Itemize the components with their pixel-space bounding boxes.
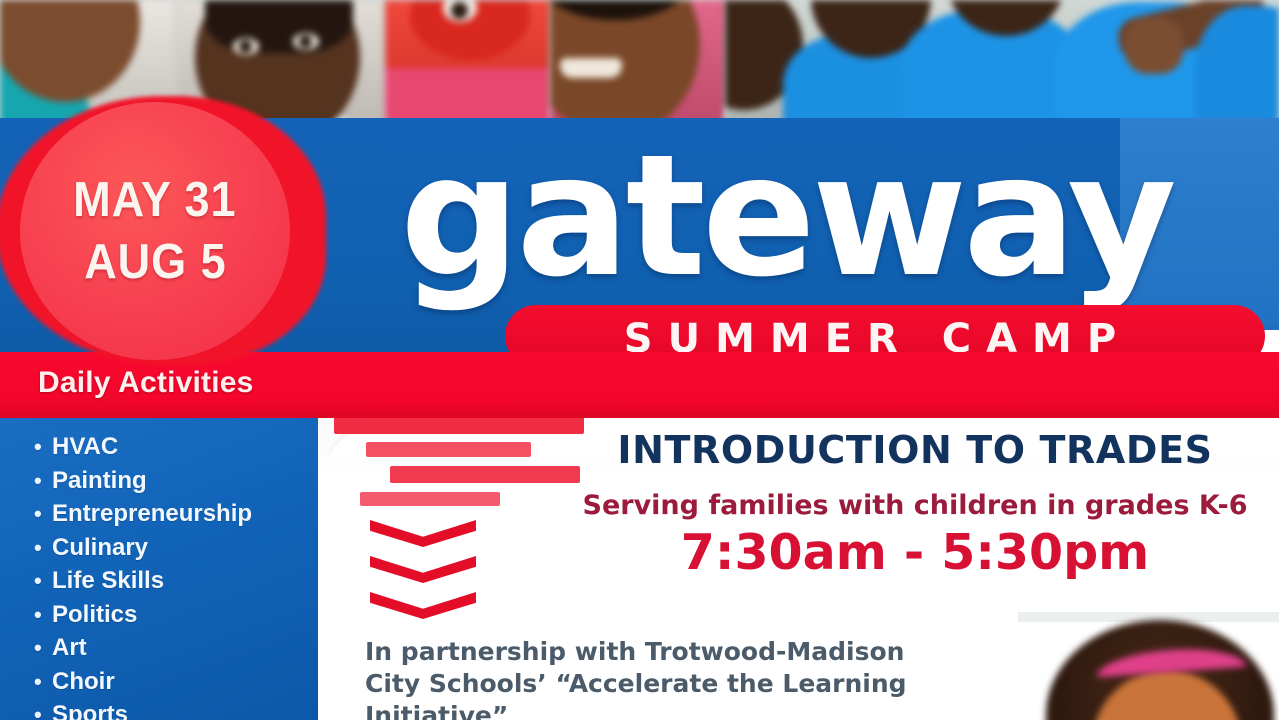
activity-item: Painting (34, 464, 318, 498)
activity-item: HVAC (34, 430, 318, 464)
partnership-note: In partnership with Trotwood-Madison Cit… (365, 636, 965, 720)
activity-item: Choir (34, 665, 318, 699)
gateway-wordmark: gateway (400, 132, 1173, 300)
child-4-smile (560, 58, 622, 78)
child-2-hair (205, 0, 353, 53)
chevron-down-icon (370, 556, 476, 583)
chevron-arrows-icon (370, 520, 480, 625)
camp-end-date: AUG 5 (84, 231, 226, 293)
photo-child-bottom-right (1018, 612, 1279, 720)
camp-dates-badge: MAY 31 AUG 5 (20, 102, 290, 360)
activity-item: Culinary (34, 531, 318, 565)
activity-item: Life Skills (34, 564, 318, 598)
blue-group-hand (1125, 18, 1183, 74)
child-2-right-pupil (299, 35, 312, 48)
child-2-left-pupil (239, 40, 252, 53)
program-title: INTRODUCTION TO TRADES (565, 428, 1265, 472)
activity-item: Art (34, 631, 318, 665)
child-3-pupil (451, 2, 468, 19)
activity-item: Politics (34, 598, 318, 632)
red-streak (360, 492, 500, 506)
photo-child-3-mascot (385, 0, 550, 132)
summer-camp-flyer: gateway SUMMER CAMP Daily Activities MAY… (0, 0, 1279, 720)
activities-panel: HVACPaintingEntrepreneurshipCulinaryLife… (0, 418, 318, 720)
red-streak (366, 442, 531, 457)
photo-children-blue-shirts (725, 0, 1279, 132)
activity-item: Entrepreneurship (34, 497, 318, 531)
daily-activities-heading: Daily Activities (38, 366, 254, 400)
program-eligibility: Serving families with children in grades… (565, 490, 1265, 521)
red-streak (334, 416, 584, 434)
red-streak (390, 466, 580, 483)
program-hours: 7:30am - 5:30pm (565, 524, 1265, 581)
camp-start-date: MAY 31 (73, 169, 236, 231)
photo-child-4 (550, 0, 725, 132)
chevron-down-icon (370, 592, 476, 619)
chevron-down-icon (370, 520, 476, 547)
activity-item: Sports (34, 698, 318, 720)
activities-list: HVACPaintingEntrepreneurshipCulinaryLife… (34, 430, 318, 720)
